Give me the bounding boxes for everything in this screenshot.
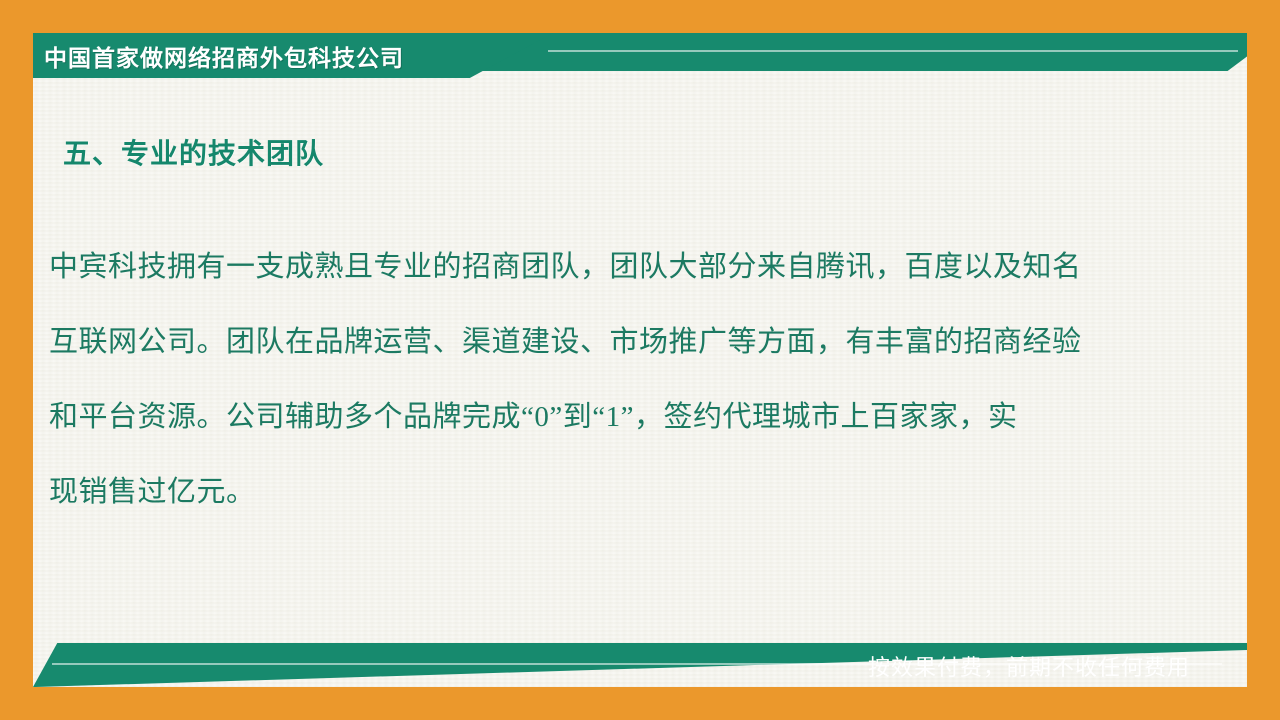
paragraph-line: 中宾科技拥有一支成熟且专业的招商团队，团队大部分来自腾讯，百度以及知名 <box>49 230 1204 305</box>
section-heading: 五、专业的技术团队 <box>63 132 324 172</box>
paragraph-line: 和平台资源。公司辅助多个品牌完成“0”到“1”，签约代理城市上百家家，实 <box>49 380 1204 455</box>
paragraph-line: 互联网公司。团队在品牌运营、渠道建设、市场推广等方面，有丰富的招商经验 <box>49 305 1204 380</box>
footer-slogan: 按效果付费，前期不收任何费用 <box>0 645 1232 687</box>
header-divider-line <box>548 50 1238 52</box>
header-title-banner: 中国首家做网络招商外包科技公司 <box>33 33 553 78</box>
paragraph-line: 现销售过亿元。 <box>49 455 1204 530</box>
header-accent-bar <box>470 33 1247 71</box>
slide-body: 五、专业的技术团队 中宾科技拥有一支成熟且专业的招商团队，团队大部分来自腾讯，百… <box>33 90 1247 630</box>
presentation-slide: 中国首家做网络招商外包科技公司 五、专业的技术团队 中宾科技拥有一支成熟且专业的… <box>0 0 1280 720</box>
header-title: 中国首家做网络招商外包科技公司 <box>44 39 404 73</box>
section-paragraph: 中宾科技拥有一支成熟且专业的招商团队，团队大部分来自腾讯，百度以及知名 互联网公… <box>49 230 1204 530</box>
